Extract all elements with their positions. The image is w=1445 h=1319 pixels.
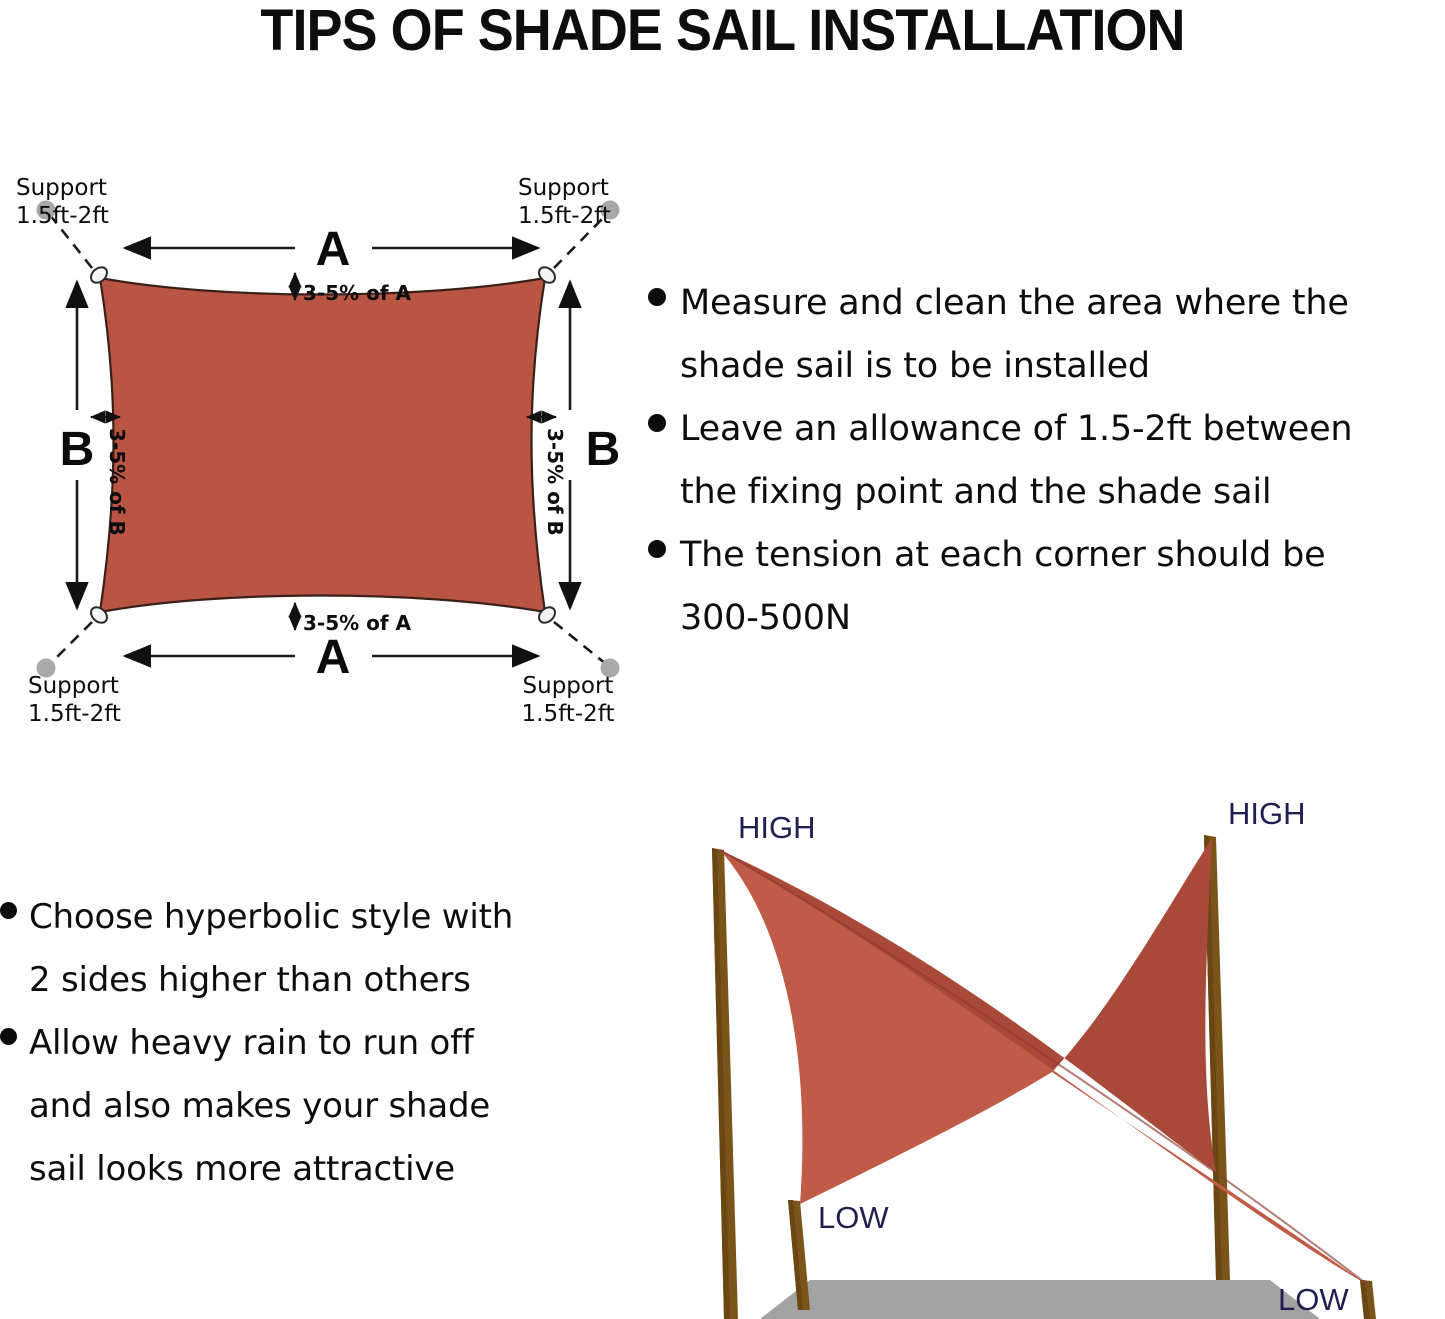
pole-high-left	[712, 848, 738, 1319]
tether-line-bottom-right	[554, 622, 606, 664]
tip-line: Allow heavy rain to run off	[29, 1023, 474, 1063]
support-label-bottom-left-line1: Support	[28, 673, 119, 699]
tether-line-bottom-left	[50, 622, 92, 664]
list-item: The tension at each corner should be 300…	[648, 524, 1445, 650]
bullet-dot-icon	[648, 288, 666, 306]
support-label-top-left-line1: Support	[16, 175, 107, 201]
curvature-label-right: 3-5% of B	[543, 428, 567, 536]
tip-line: sail looks more attractive	[29, 1149, 455, 1189]
label-low-right: LOW	[1278, 1282, 1349, 1317]
shade-sail-fabric	[100, 278, 545, 612]
tip-line: 300-500N	[680, 598, 851, 638]
support-label-top-right-line1: Support	[518, 175, 609, 201]
bullet-dot-icon	[0, 902, 17, 919]
tip-line: Choose hyperbolic style with	[29, 897, 513, 937]
installation-tips-list: Measure and clean the area where the sha…	[648, 272, 1445, 650]
ground-shadow	[760, 1280, 1320, 1319]
support-label-bottom-right-line1: Support	[523, 673, 614, 699]
tip-line: and also makes your shade	[29, 1086, 490, 1126]
label-high-left: HIGH	[738, 810, 816, 845]
label-high-right: HIGH	[1228, 796, 1306, 831]
list-item: Allow heavy rain to run off and also mak…	[0, 1012, 620, 1201]
list-item: Measure and clean the area where the sha…	[648, 272, 1445, 398]
pole-low-left	[788, 1200, 810, 1310]
support-label-bottom-right-line2: 1.5ft-2ft	[522, 701, 615, 727]
hyperbolic-style-tips-list: Choose hyperbolic style with 2 sides hig…	[0, 886, 620, 1201]
curvature-label-bottom: 3-5% of A	[303, 611, 412, 635]
tip-line: shade sail is to be installed	[680, 346, 1150, 386]
tip-line: the fixing point and the shade sail	[680, 472, 1271, 512]
support-label-top-right-line2: 1.5ft-2ft	[518, 203, 611, 229]
tip-line: Leave an allowance of 1.5-2ft between	[680, 409, 1352, 449]
dimension-label-right-B: B	[586, 423, 621, 476]
tip-line: Measure and clean the area where the	[680, 283, 1349, 323]
tip-line: 2 sides higher than others	[29, 960, 471, 1000]
dimension-label-bottom-A: A	[316, 631, 351, 684]
list-item: Leave an allowance of 1.5-2ft between th…	[648, 398, 1445, 524]
rectangular-sail-diagram: Support 1.5ft-2ft Support 1.5ft-2ft Supp…	[0, 160, 660, 730]
page-title: TIPS OF SHADE SAIL INSTALLATION	[51, 0, 1395, 62]
curvature-label-top: 3-5% of A	[303, 281, 412, 305]
bullet-dot-icon	[648, 414, 666, 432]
support-label-bottom-left-line2: 1.5ft-2ft	[28, 701, 121, 727]
dimension-label-top-A: A	[316, 223, 351, 276]
bullet-dot-icon	[648, 540, 666, 558]
tip-line: The tension at each corner should be	[680, 535, 1325, 575]
hyperbolic-sail-diagram: HIGH HIGH LOW LOW	[660, 780, 1445, 1319]
dimension-label-left-B: B	[60, 423, 95, 476]
curvature-label-left: 3-5% of B	[105, 428, 129, 536]
bullet-dot-icon	[0, 1028, 17, 1045]
support-label-top-left-line2: 1.5ft-2ft	[16, 203, 109, 229]
list-item: Choose hyperbolic style with 2 sides hig…	[0, 886, 620, 1012]
label-low-left: LOW	[818, 1200, 889, 1235]
pole-low-right	[1360, 1280, 1376, 1319]
